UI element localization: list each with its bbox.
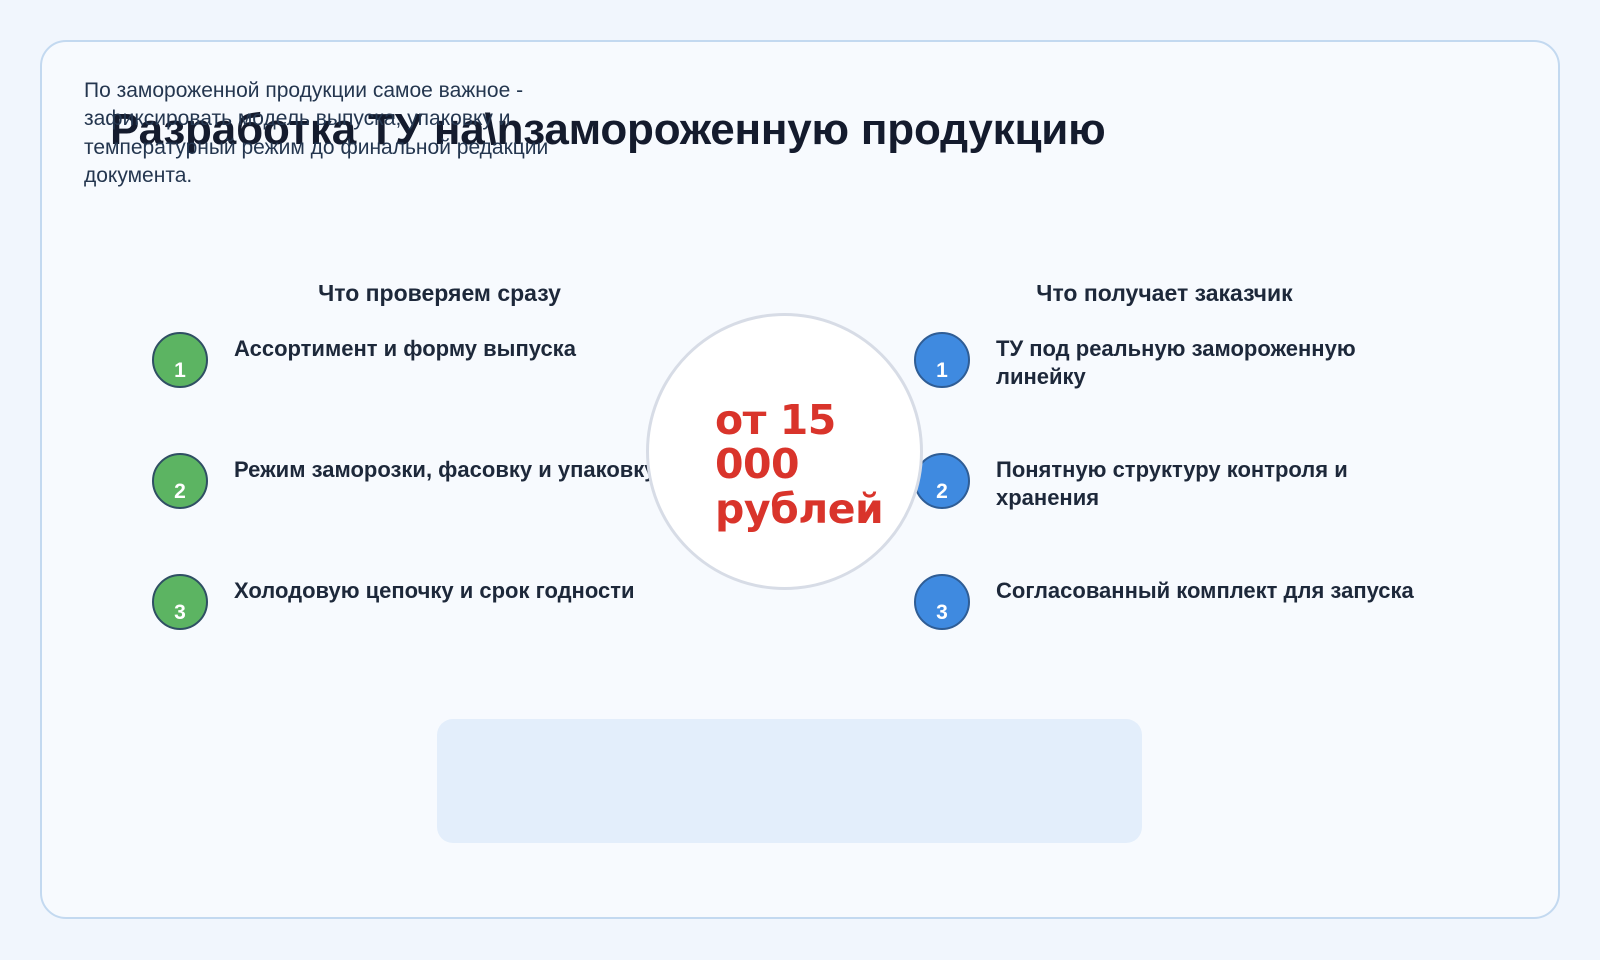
checklist-right: 1 ТУ под реальную замороженную линейку 2… (914, 332, 1474, 695)
list-item-label: Ассортимент и форму выпуска (234, 335, 664, 363)
price-circle: от 15 000 рублей (646, 313, 923, 590)
slide-card: Разработка ТУ на\nзамороженную продукцию… (40, 40, 1560, 919)
step-badge: 2 (152, 453, 208, 509)
list-item: 3 Согласованный комплект для запуска (914, 574, 1474, 695)
list-item: 1 ТУ под реальную замороженную линейку (914, 332, 1474, 453)
list-item: 3 Холодовую цепочку и срок годности (152, 574, 712, 695)
list-item-label: Понятную структуру контроля и хранения (996, 456, 1416, 512)
list-item-label: ТУ под реальную замороженную линейку (996, 335, 1416, 391)
list-item: 1 Ассортимент и форму выпуска (152, 332, 712, 453)
list-item-label: Режим заморозки, фасовку и упаковку (234, 456, 664, 484)
checklist-left: 1 Ассортимент и форму выпуска 2 Режим за… (152, 332, 712, 695)
price-value: от 15 000 рублей (715, 398, 875, 531)
note-text: По замороженной продукции самое важное -… (84, 77, 644, 190)
list-item: 2 Режим заморозки, фасовку и упаковку (152, 453, 712, 574)
step-badge: 1 (152, 332, 208, 388)
list-item-label: Холодовую цепочку и срок годности (234, 577, 664, 605)
note-box (437, 719, 1142, 843)
list-item: 2 Понятную структуру контроля и хранения (914, 453, 1474, 574)
step-badge: 1 (914, 332, 970, 388)
step-badge: 3 (914, 574, 970, 630)
step-badge: 3 (152, 574, 208, 630)
column-heading-left: Что проверяем сразу (167, 280, 712, 307)
column-heading-right: Что получает заказчик (872, 280, 1457, 307)
list-item-label: Согласованный комплект для запуска (996, 577, 1416, 605)
